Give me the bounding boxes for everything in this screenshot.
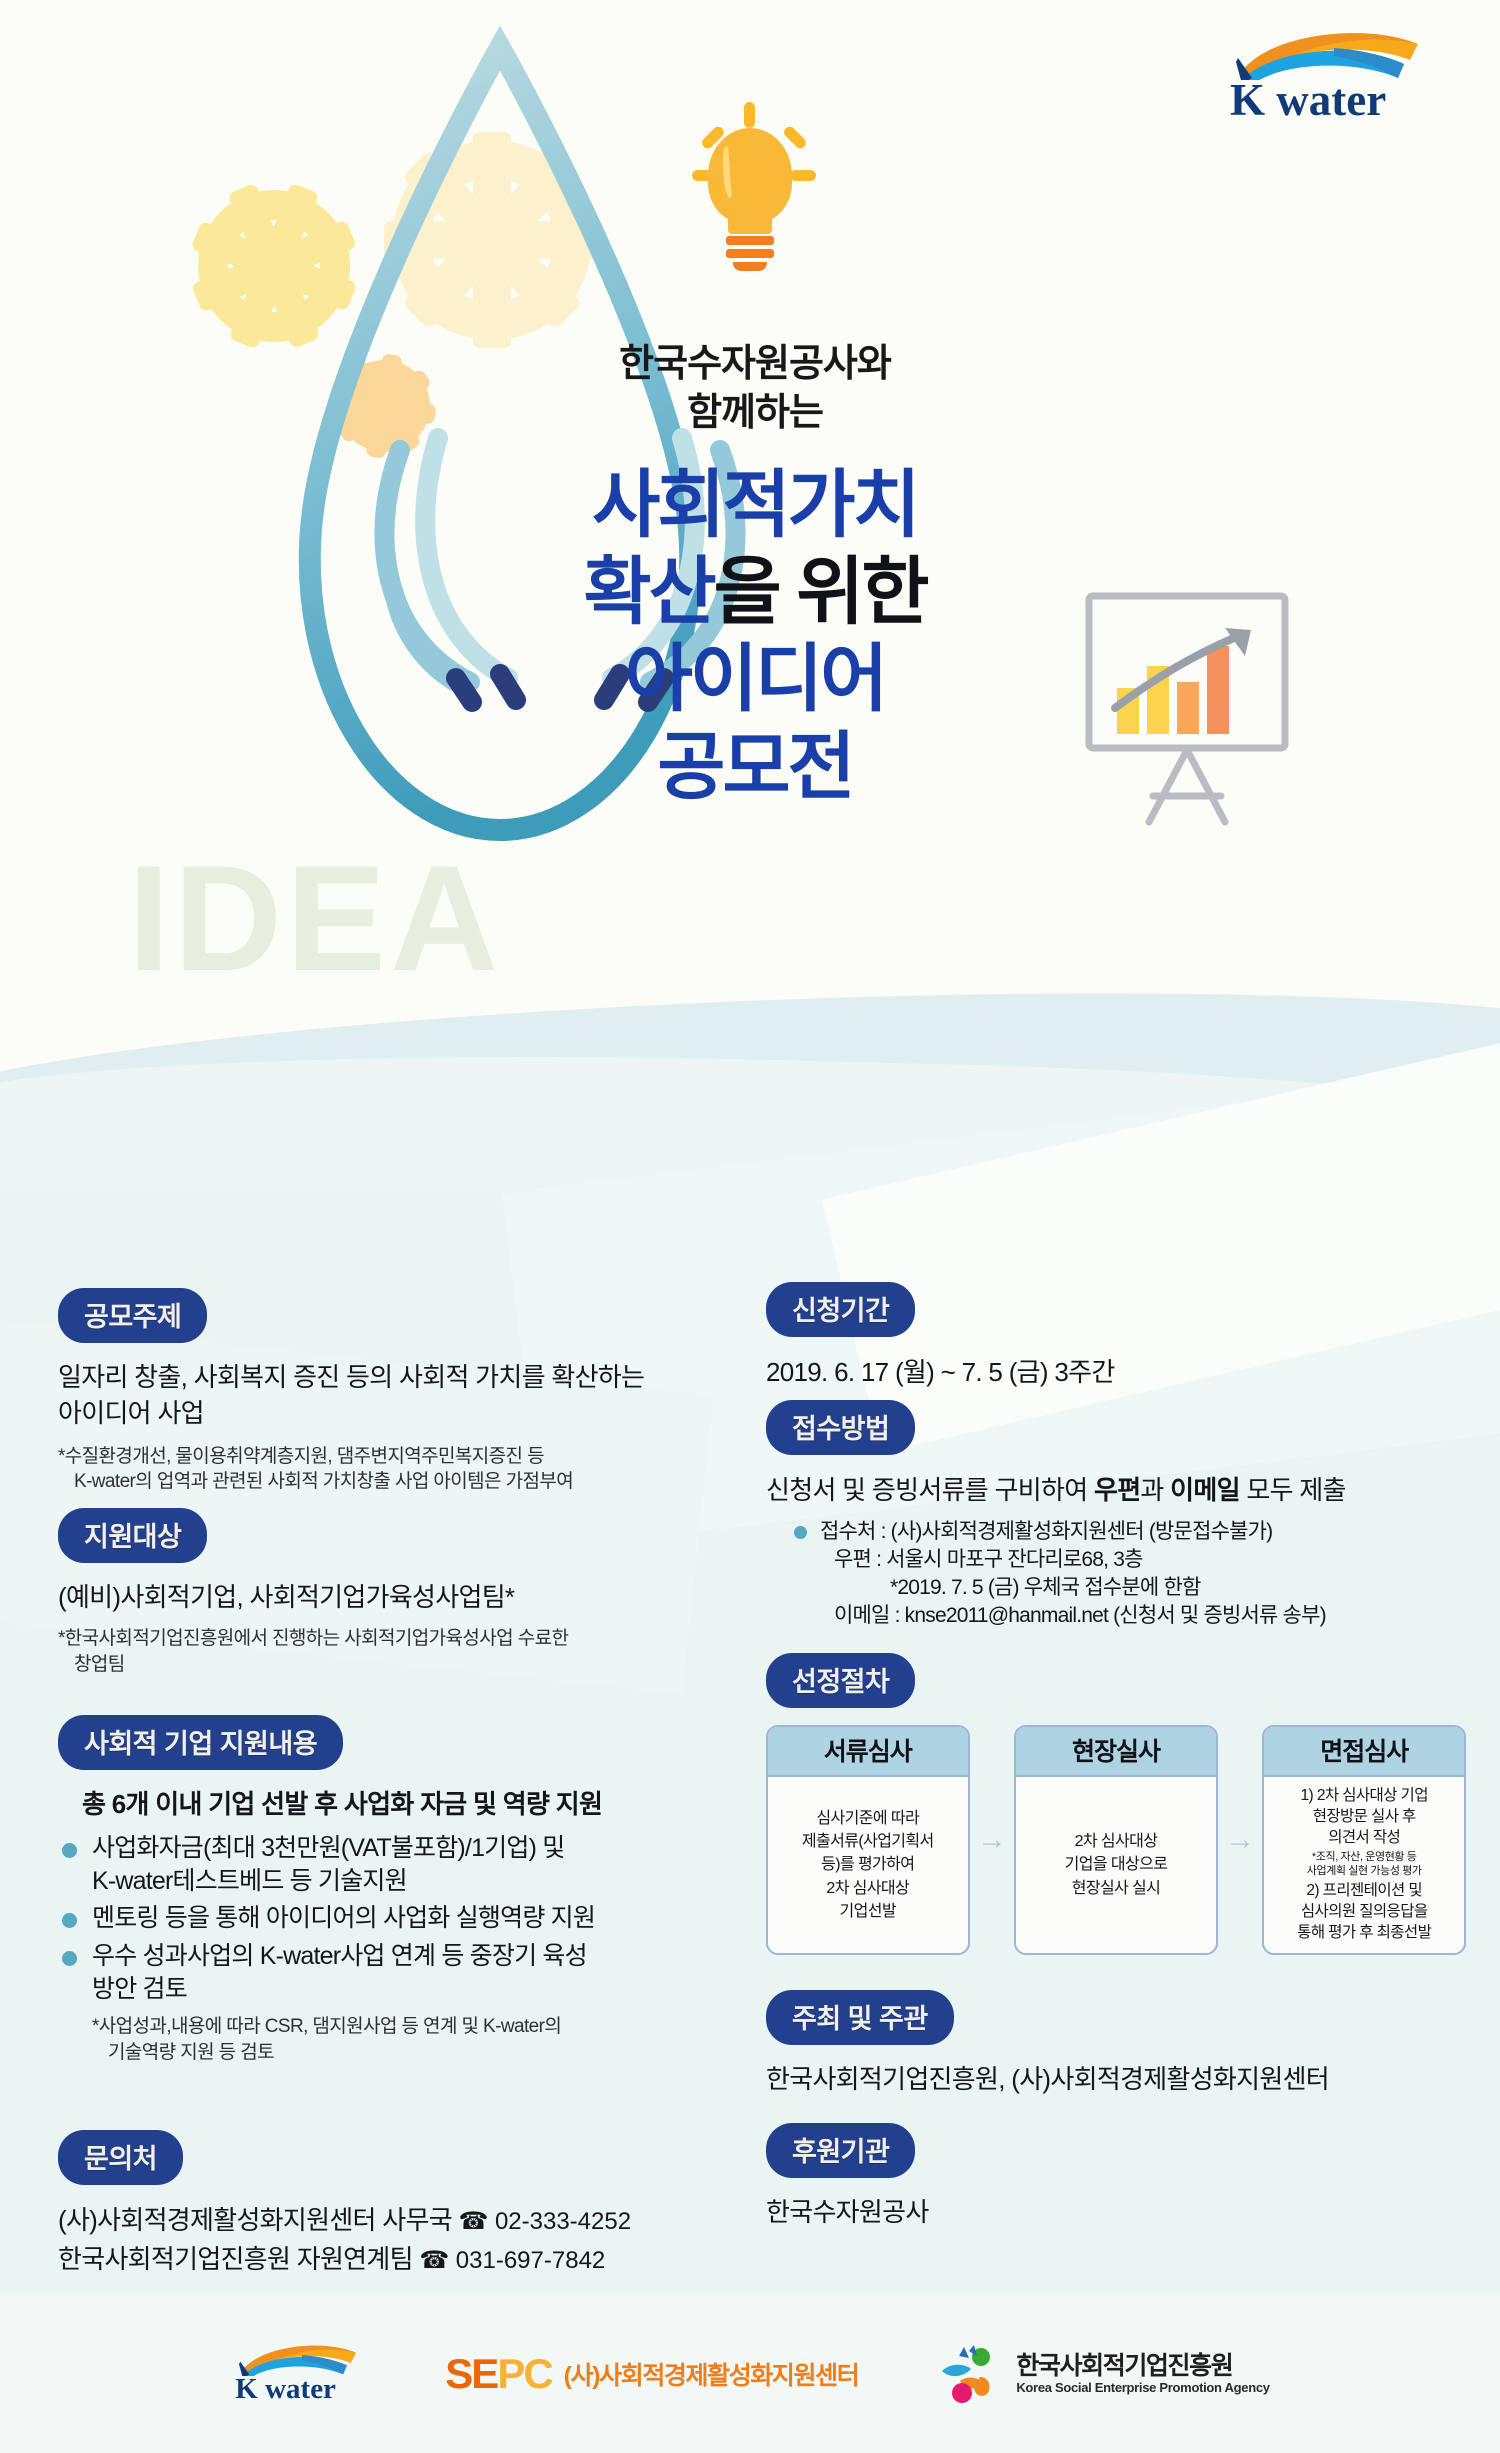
ksepa-logo: 한국사회적기업진흥원 Korea Social Enterprise Promo…	[938, 2343, 1269, 2405]
title-subline-1: 한국수자원공사와	[520, 340, 990, 389]
section-method-pill: 접수방법	[766, 1400, 915, 1455]
flow-step-3-part-1: 1) 2차 심사대상 기업 현장방문 실사 후 의견서 작성	[1270, 1786, 1458, 1848]
sepc-logo: SEPC (사)사회적경제활성화지원센터	[445, 2353, 858, 2395]
lightbulb-icon	[690, 110, 810, 285]
method-lead-c: 과	[1140, 1475, 1170, 1505]
ksepa-name-en: Korea Social Enterprise Promotion Agency	[1016, 2380, 1269, 2395]
method-lead-a: 신청서 및 증빙서류를 구비하여	[766, 1475, 1094, 1505]
flow-arrow-icon: →	[970, 1725, 1015, 1955]
support-bullet-list: 사업화자금(최대 3천만원(VAT불포함)/1기업) 및 K-water테스트베…	[58, 1832, 748, 2006]
selection-process-flow: 서류심사 심사기준에 따라 제출서류(사업기획서 등)를 평가하여 2차 심사대…	[766, 1725, 1466, 1955]
section-period: 신청기간 2019. 6. 17 (월) ~ 7. 5 (금) 3주간	[766, 1282, 1466, 1391]
title-line-3: 아이디어	[520, 635, 990, 722]
idea-watermark: IDEA	[128, 843, 502, 993]
method-lead-bold-email: 이메일	[1170, 1475, 1240, 1505]
title-main: 사회적가치 확산을 위한 아이디어 공모전	[520, 461, 990, 810]
phone-icon: ☎	[419, 2247, 449, 2274]
sepc-mark-se: SE	[445, 2350, 497, 2397]
support-b3-line1: 우수 성과사업의 K-water사업 연계 등 중장기 육성	[92, 1942, 587, 1970]
method-lead-bold-post: 우편	[1094, 1475, 1140, 1505]
title-subline-2: 함께하는	[520, 389, 990, 438]
section-target-lead: (예비)사회적기업, 사회적기업가육성사업팀*	[58, 1580, 738, 1616]
method-lead: 신청서 및 증빙서류를 구비하여 우편과 이메일 모두 제출	[766, 1473, 1476, 1509]
sepc-mark-c: C	[523, 2350, 551, 2397]
method-email[interactable]: 이메일 : knse2011@hanmail.net (신청서 및 증빙서류 송…	[820, 1602, 1476, 1630]
section-host: 주최 및 주관 한국사회적기업진흥원, (사)사회적경제활성화지원센터	[766, 1990, 1466, 2098]
flow-step-2-title: 현장실사	[1016, 1727, 1216, 1777]
section-period-pill: 신청기간	[766, 1282, 915, 1337]
section-topic-pill: 공모주제	[58, 1288, 207, 1343]
title-line-2: 확산을 위한	[520, 548, 990, 635]
sponsor-value: 한국수자원공사	[766, 2195, 1466, 2231]
footer-logo-row: K water SEPC (사)사회적경제활성화지원센터	[0, 2295, 1500, 2453]
support-bullet-item: 멘토링 등을 통해 아이디어의 사업화 실행역량 지원	[58, 1902, 748, 1935]
flow-step-document-review: 서류심사 심사기준에 따라 제출서류(사업기획서 등)를 평가하여 2차 심사대…	[766, 1725, 970, 1955]
section-target: 지원대상 (예비)사회적기업, 사회적기업가육성사업팀* *한국사회적기업진흥원…	[58, 1508, 738, 1677]
hero-section: IDEA	[0, 0, 1500, 1240]
method-receiver: 접수처 : (사)사회적경제활성화지원센터 (방문접수불가)	[820, 1520, 1272, 1543]
section-sponsor: 후원기관 한국수자원공사	[766, 2123, 1466, 2231]
ksepa-name-ko: 한국사회적기업진흥원	[1016, 2353, 1269, 2381]
section-target-note: *한국사회적기업진흥원에서 진행하는 사회적기업가육성사업 수료한 창업팀	[58, 1626, 738, 1677]
contact-phone-1[interactable]: 02-333-4252	[495, 2208, 631, 2235]
method-lead-e: 모두 제출	[1240, 1475, 1346, 1505]
section-support-note: *사업성과,내용에 따라 CSR, 댐지원사업 등 연계 및 K-water의 …	[58, 2014, 748, 2065]
sepc-wordmark: SEPC	[445, 2353, 551, 2395]
period-value: 2019. 6. 17 (월) ~ 7. 5 (금) 3주간	[766, 1355, 1466, 1391]
section-contact: 문의처 (사)사회적경제활성화지원센터 사무국 ☎ 02-333-4252 한국…	[58, 2130, 778, 2279]
flow-step-1-title: 서류심사	[768, 1727, 968, 1777]
sepc-name-text: (사)사회적경제활성화지원센터	[564, 2356, 859, 2392]
section-sponsor-pill: 후원기관	[766, 2123, 915, 2178]
target-note-line-2: 창업팀	[58, 1652, 738, 1678]
section-target-pill: 지원대상	[58, 1508, 207, 1563]
kwater-logo-top: K water	[1222, 28, 1432, 118]
section-process-pill: 선정절차	[766, 1653, 915, 1708]
section-support: 사회적 기업 지원내용 총 6개 이내 기업 선발 후 사업화 자금 및 역량 …	[58, 1715, 748, 2065]
flow-step-3-title: 면접심사	[1264, 1727, 1464, 1777]
flow-step-3-footnote: *조직, 자산, 운영현황 등 사업계획 실현 가능성 평가	[1270, 1851, 1458, 1879]
topic-note-line-2: K-water의 업역과 관련된 사회적 가치창출 사업 아이템은 가점부여	[58, 1469, 738, 1495]
contact-phone-2[interactable]: 031-697-7842	[456, 2247, 605, 2274]
topic-lead-line-1: 일자리 창출, 사회복지 증진 등의 사회적 가치를 확산하는	[58, 1360, 738, 1396]
section-contact-pill: 문의처	[58, 2130, 183, 2185]
kwater-footer-text: K water	[230, 2373, 365, 2406]
poster-root: IDEA	[0, 0, 1500, 2453]
contact-org-1: (사)사회적경제활성화지원센터 사무국	[58, 2205, 452, 2235]
kwater-logo-footer: K water	[230, 2342, 365, 2406]
contact-line-2: 한국사회적기업진흥원 자원연계팀 ☎ 031-697-7842	[58, 2240, 778, 2279]
flow-step-2-body: 2차 심사대상 기업을 대상으로 현장실사 실시	[1016, 1777, 1216, 1953]
host-value: 한국사회적기업진흥원, (사)사회적경제활성화지원센터	[766, 2062, 1466, 2098]
support-bullet-item: 사업화자금(최대 3천만원(VAT불포함)/1기업) 및 K-water테스트베…	[58, 1832, 748, 1899]
kwater-logo-text: K water	[1222, 74, 1432, 126]
chart-easel-illustration	[1075, 590, 1305, 850]
method-bullet-item: 접수처 : (사)사회적경제활성화지원센터 (방문접수불가) 우편 : 서울시 …	[792, 1518, 1476, 1631]
support-note-line-1: *사업성과,내용에 따라 CSR, 댐지원사업 등 연계 및 K-water의	[92, 2014, 748, 2040]
flow-step-1-body: 심사기준에 따라 제출서류(사업기획서 등)를 평가하여 2차 심사대상 기업선…	[768, 1777, 968, 1953]
support-b1-line1: 사업화자금(최대 3천만원(VAT불포함)/1기업) 및	[92, 1834, 564, 1862]
topic-note-line-1: *수질환경개선, 물이용취약계층지원, 댐주변지역주민복지증진 등	[58, 1444, 738, 1470]
flow-arrow-icon: →	[1218, 1725, 1263, 1955]
support-bullet-item: 우수 성과사업의 K-water사업 연계 등 중장기 육성 방안 검토	[58, 1940, 748, 2007]
section-topic-note: *수질환경개선, 물이용취약계층지원, 댐주변지역주민복지증진 등 K-wate…	[58, 1444, 738, 1495]
section-process: 선정절차	[766, 1653, 1466, 1708]
phone-icon: ☎	[459, 2208, 489, 2235]
poster-title-block: 한국수자원공사와 함께하는 사회적가치 확산을 위한 아이디어 공모전	[520, 340, 990, 810]
method-bullet-list: 접수처 : (사)사회적경제활성화지원센터 (방문접수불가) 우편 : 서울시 …	[766, 1518, 1476, 1631]
ksepa-symbol-icon	[938, 2343, 1002, 2405]
target-note-line-1: *한국사회적기업진흥원에서 진행하는 사회적기업가육성사업 수료한	[58, 1626, 738, 1652]
section-topic: 공모주제 일자리 창출, 사회복지 증진 등의 사회적 가치를 확산하는 아이디…	[58, 1288, 738, 1495]
flow-step-3-body: 1) 2차 심사대상 기업 현장방문 실사 후 의견서 작성 *조직, 자산, …	[1264, 1777, 1464, 1953]
section-topic-lead: 일자리 창출, 사회복지 증진 등의 사회적 가치를 확산하는 아이디어 사업	[58, 1360, 738, 1432]
support-b3-line2: 방안 검토	[92, 1973, 748, 2006]
section-support-pill: 사회적 기업 지원내용	[58, 1715, 343, 1770]
flow-step-interview: 면접심사 1) 2차 심사대상 기업 현장방문 실사 후 의견서 작성 *조직,…	[1262, 1725, 1466, 1955]
contact-line-1: (사)사회적경제활성화지원센터 사무국 ☎ 02-333-4252	[58, 2201, 778, 2240]
title-line-1: 사회적가치	[520, 461, 990, 548]
footer: K water SEPC (사)사회적경제활성화지원센터	[0, 2295, 1500, 2453]
flow-step-onsite-inspection: 현장실사 2차 심사대상 기업을 대상으로 현장실사 실시	[1014, 1725, 1218, 1955]
contact-lines: (사)사회적경제활성화지원센터 사무국 ☎ 02-333-4252 한국사회적기…	[58, 2201, 778, 2279]
contact-org-2: 한국사회적기업진흥원 자원연계팀	[58, 2244, 413, 2274]
flow-step-3-part-2: 2) 프리젠테이션 및 심사의원 질의응답을 통해 평가 후 최종선발	[1270, 1881, 1458, 1943]
title-line-4: 공모전	[520, 723, 990, 810]
support-headline: 총 6개 이내 기업 선발 후 사업화 자금 및 역량 지원	[58, 1787, 748, 1823]
sepc-mark-p: P	[497, 2350, 523, 2397]
support-b2-line1: 멘토링 등을 통해 아이디어의 사업화 실행역량 지원	[92, 1904, 595, 1932]
support-note-line-2: 기술역량 지원 등 검토	[92, 2040, 748, 2066]
section-method: 접수방법 신청서 및 증빙서류를 구비하여 우편과 이메일 모두 제출 접수처 …	[766, 1400, 1476, 1634]
ksepa-text-block: 한국사회적기업진흥원 Korea Social Enterprise Promo…	[1016, 2353, 1269, 2396]
support-b1-line2: K-water테스트베드 등 기술지원	[92, 1865, 748, 1898]
method-postal: 우편 : 서울시 마포구 잔다리로68, 3층	[820, 1546, 1476, 1574]
method-postal-note: *2019. 7. 5 (금) 우체국 접수분에 한함	[820, 1574, 1476, 1602]
section-host-pill: 주최 및 주관	[766, 1990, 954, 2045]
topic-lead-line-2: 아이디어 사업	[58, 1396, 738, 1432]
